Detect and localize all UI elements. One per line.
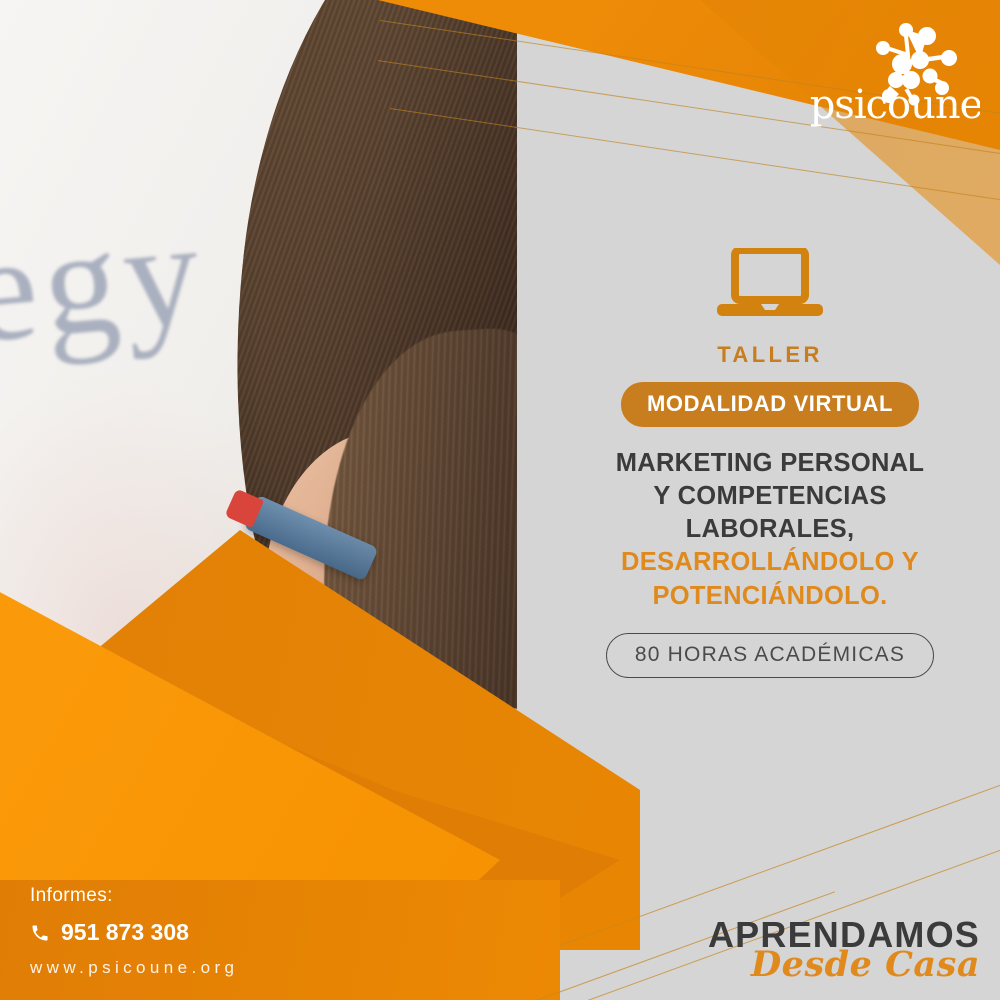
phone-icon [30,923,50,943]
modality-badge: MODALIDAD VIRTUAL [621,382,919,427]
slogan-block: APRENDAMOS Desde Casa [708,917,980,982]
poster-canvas: egy p 25 price / • sellplace /marketing … [0,0,1000,1000]
phone-number: 951 873 308 [61,919,189,946]
title-line-3: LABORALES, [686,515,855,543]
molecule-network-icon: psicoune [810,18,980,128]
content-block: TALLER MODALIDAD VIRTUAL MARKETING PERSO… [560,248,980,678]
logo-wordmark: psicoune [810,82,980,128]
title-line-1: MARKETING PERSONAL [616,449,925,477]
brand-logo[interactable]: psicoune [810,18,980,128]
title-line-5: POTENCIÁNDOLO. [652,582,887,610]
hours-pill: 80 HORAS ACADÉMICAS [606,633,934,678]
kicker-label: TALLER [560,342,980,368]
informes-label: Informes: [30,885,238,907]
title-line-4: DESARROLLÁNDOLO Y [621,548,919,576]
phone-row[interactable]: 951 873 308 [30,919,238,946]
page-title: MARKETING PERSONAL Y COMPETENCIAS LABORA… [560,447,980,613]
contact-block: Informes: 951 873 308 www.psicoune.org [30,885,238,978]
title-line-2: Y COMPETENCIAS [653,482,886,510]
website-url[interactable]: www.psicoune.org [30,958,238,978]
laptop-icon [717,248,823,320]
